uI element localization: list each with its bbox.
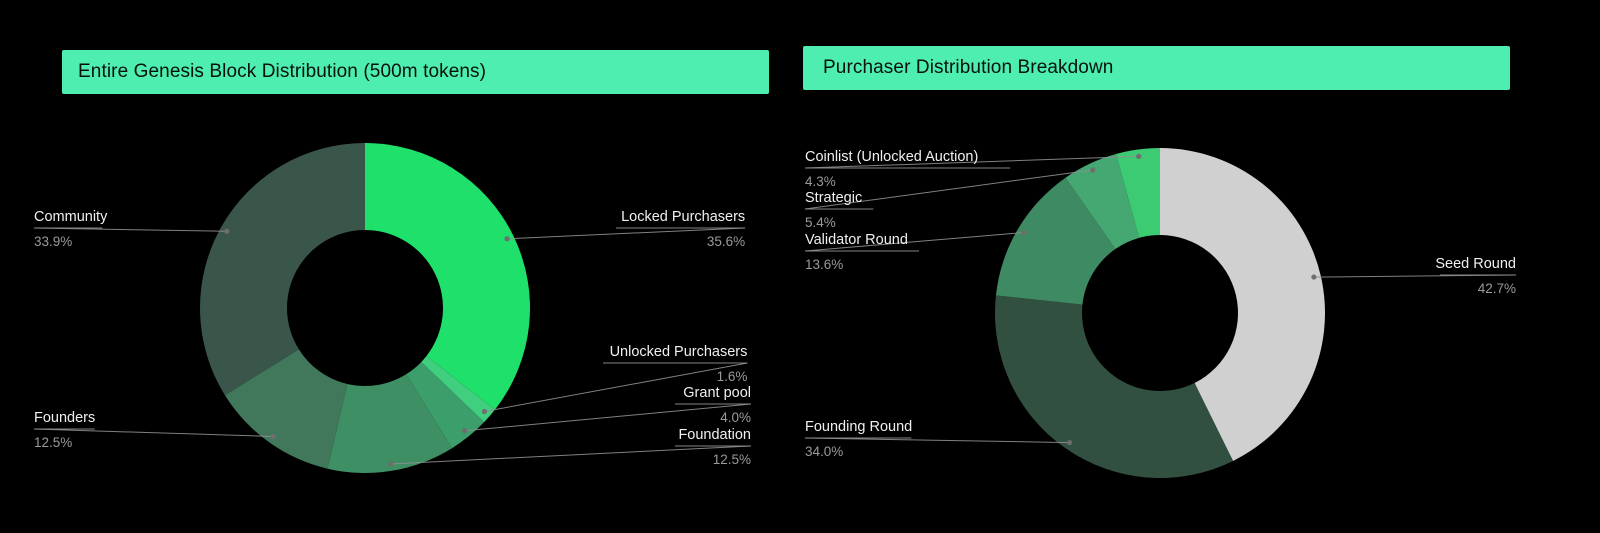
leader-line [34,228,227,231]
purchaser-donut-svg: Seed Round42.7%Founding Round34.0%Valida… [790,118,1590,518]
pie-label-name: Coinlist (Unlocked Auction) [805,149,978,165]
pie-label-name: Validator Round [805,232,908,248]
pie-label-name: Founding Round [805,419,912,435]
pie-label-value: 35.6% [707,234,745,249]
pie-label-name: Community [34,209,108,225]
purchaser-donut-chart: Seed Round42.7%Founding Round34.0%Valida… [790,118,1590,518]
dashboard-root: Entire Genesis Block Distribution (500m … [0,0,1600,533]
pie-callout: Locked Purchasers35.6% [504,209,745,249]
pie-label-name: Locked Purchasers [621,209,745,225]
pie-slice [365,143,530,410]
leader-dot [1311,274,1316,279]
pie-label-name: Strategic [805,190,862,206]
leader-dot [270,434,275,439]
pie-label-value: 5.4% [805,215,836,230]
pie-slice [200,143,365,395]
pie-label-name: Seed Round [1435,256,1516,272]
leader-dot [482,409,487,414]
pie-label-value: 12.5% [713,452,751,467]
pie-label-name: Grant pool [683,385,751,401]
leader-dot [1021,230,1026,235]
pie-label-value: 1.6% [717,369,748,384]
pie-callout: Founding Round34.0% [805,419,1072,459]
pie-label-value: 42.7% [1478,281,1516,296]
pie-label-value: 4.0% [720,410,751,425]
genesis-title-bar: Entire Genesis Block Distribution (500m … [62,50,769,94]
pie-label-name: Founders [34,410,95,426]
pie-label-value: 34.0% [805,444,843,459]
purchaser-title-text: Purchaser Distribution Breakdown [823,57,1113,79]
pie-callout: Founders12.5% [34,410,276,450]
genesis-donut-svg: Locked Purchasers35.6%Unlocked Purchaser… [20,118,780,518]
leader-line [805,438,1070,443]
leader-dot [1090,167,1095,172]
pie-label-value: 13.6% [805,257,843,272]
pie-label-name: Foundation [678,427,751,443]
purchaser-title-bar: Purchaser Distribution Breakdown [803,46,1510,90]
leader-dot [504,236,509,241]
leader-dot [388,461,393,466]
genesis-donut-chart: Locked Purchasers35.6%Unlocked Purchaser… [20,118,780,518]
leader-dot [1067,440,1072,445]
pie-label-value: 33.9% [34,234,72,249]
leader-line [1314,275,1516,277]
pie-callout: Seed Round42.7% [1311,256,1516,296]
leader-dot [224,229,229,234]
panel-purchaser-breakdown: Purchaser Distribution Breakdown Seed Ro… [790,0,1600,533]
genesis-title-text: Entire Genesis Block Distribution (500m … [78,61,486,83]
pie-label-value: 12.5% [34,435,72,450]
pie-callout: Validator Round13.6% [805,230,1027,272]
pie-label-value: 4.3% [805,174,836,189]
pie-label-name: Unlocked Purchasers [610,344,748,360]
leader-dot [1136,154,1141,159]
leader-dot [462,428,467,433]
panel-genesis-distribution: Entire Genesis Block Distribution (500m … [0,0,790,533]
pie-callout: Community33.9% [34,209,229,249]
